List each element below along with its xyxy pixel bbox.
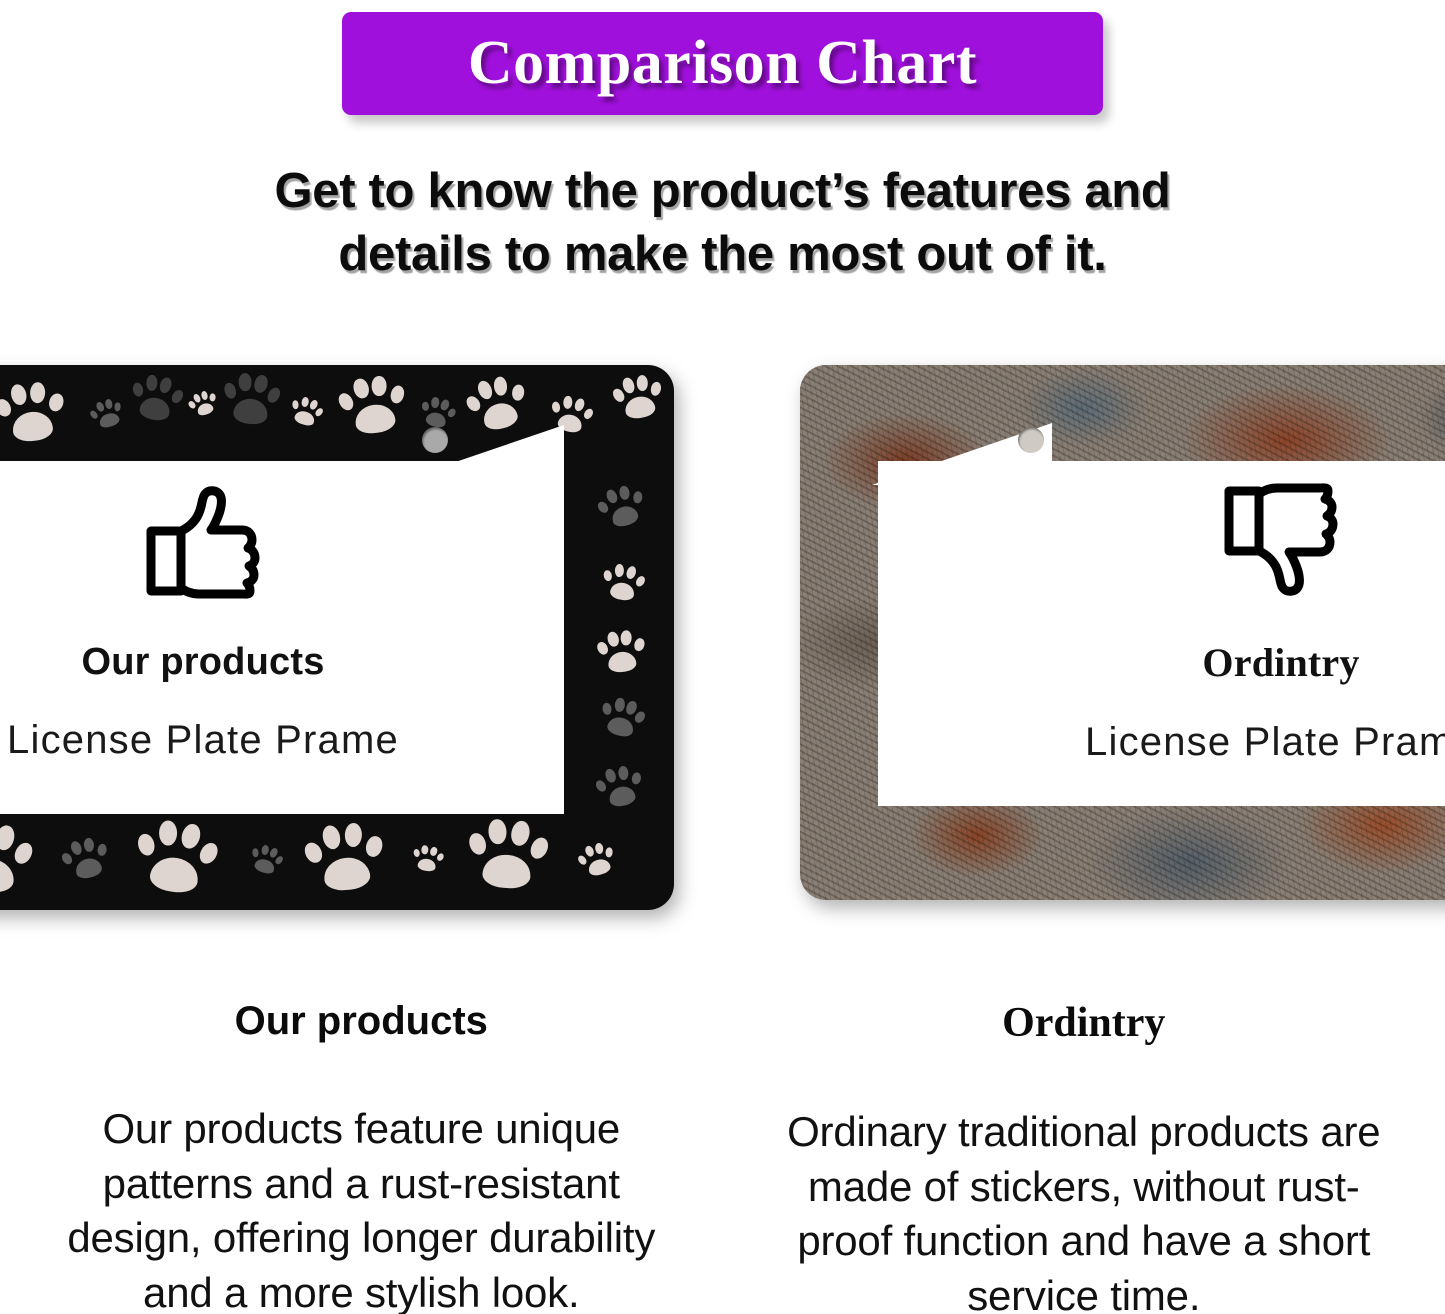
paw-frame-body [0, 365, 674, 910]
plate-window [0, 461, 564, 814]
plate-window [878, 461, 1445, 806]
ordinary-product-description: Ordinary traditional products are made o… [765, 1105, 1404, 1314]
our-product-frame: Our products License Plate Prame [0, 365, 674, 910]
mounting-hole [422, 427, 448, 453]
paw-print-icon [334, 366, 413, 441]
paw-print-icon [608, 367, 668, 425]
paw-print-icon [592, 759, 649, 814]
paw-print-icon [126, 367, 188, 428]
rust-frame-body [800, 365, 1445, 900]
paw-print-icon [463, 810, 552, 896]
subtitle-line-2: details to make the most out of it. [0, 223, 1445, 286]
product-frames-row: Our products License Plate Prame Ordintr… [0, 340, 1445, 940]
subtitle: Get to know the product’s features and d… [0, 160, 1445, 285]
our-product-heading: Our products [42, 999, 681, 1044]
page-title: Comparison Chart [468, 28, 977, 99]
our-product-description: Our products feature unique patterns and… [42, 1102, 681, 1314]
our-product-description-column: Our products Our products feature unique… [0, 985, 723, 1314]
paw-print-icon [599, 557, 650, 606]
paw-print-icon [594, 625, 649, 678]
ordinary-product-heading: Ordintry [765, 999, 1404, 1047]
mounting-hole [1018, 427, 1044, 453]
paw-print-icon [129, 809, 226, 902]
paw-print-icon [219, 366, 285, 430]
comparison-chart-page: Comparison Chart Get to know the product… [0, 0, 1445, 1314]
paw-print-icon [300, 813, 390, 899]
paw-print-icon [410, 840, 447, 875]
subtitle-line-1: Get to know the product’s features and [0, 160, 1445, 223]
title-banner: Comparison Chart [342, 12, 1103, 115]
paw-print-icon [0, 373, 70, 448]
ordinary-product-frame: Ordintry License Plate Prame [800, 365, 1445, 900]
ordinary-product-description-column: Ordintry Ordinary traditional products a… [723, 985, 1445, 1314]
comparison-description-row: Our products Our products feature unique… [0, 985, 1445, 1314]
